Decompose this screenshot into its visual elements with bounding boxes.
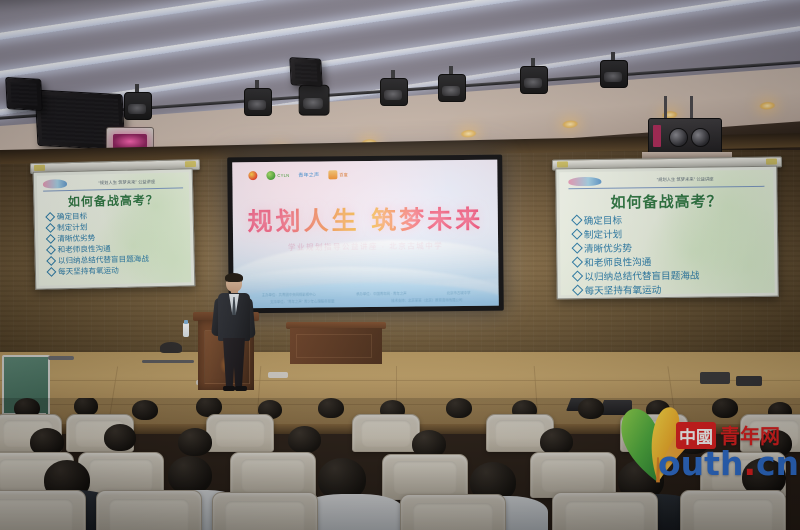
diamond-bullet-icon <box>47 267 57 277</box>
sponsor-logo-label: 青年之声 <box>298 171 319 178</box>
audience-head <box>168 456 212 494</box>
speaker-shoe <box>223 386 235 391</box>
stage-light <box>520 58 546 92</box>
projector-lens <box>669 128 688 147</box>
projection-screen-right: “规划人生 筑梦未来” 公益讲座 如何备战高考？ 确定目标 制定计划 清晰优劣势 <box>555 166 779 300</box>
slide-bullet-label: 确定目标 <box>57 211 88 223</box>
credit-text: 技术支持：北京某某（北京）教育咨询有限公司 <box>391 297 462 303</box>
slide-bullet-list: 确定目标 制定计划 清晰优劣势 和老师良性沟通 以归纳总结代替盲目题海战 <box>47 209 185 278</box>
auditorium-seat <box>352 414 420 452</box>
slide-header-text: “规划人生 筑梦未来” 公益讲座 <box>605 176 764 184</box>
speaker-presenter <box>214 274 254 392</box>
audience-head <box>132 400 158 420</box>
cable-run <box>48 356 74 360</box>
watermark-domain-tld: cn <box>756 444 799 483</box>
slide-right: “规划人生 筑梦未来” 公益讲座 如何备战高考？ 确定目标 制定计划 清晰优劣势 <box>559 170 774 296</box>
event-title: 规划人生 筑梦未来 <box>233 200 498 239</box>
sponsor-logo-qingnian-zhisheng: 青年之声 <box>298 171 319 178</box>
credit-text: 支持单位："青年之声" 青少年心理服务联盟 <box>270 298 334 304</box>
auditorium-seat <box>552 492 658 530</box>
slide-bullet-label: 制定计划 <box>584 226 623 240</box>
audience-head <box>446 398 472 418</box>
auditorium-seat <box>0 490 86 530</box>
stage-equipment-box <box>736 376 762 386</box>
red-emblem-icon <box>248 171 257 180</box>
downlight <box>460 129 477 138</box>
stage-light <box>600 52 626 86</box>
sponsor-logo-cyln: CYLN <box>266 171 289 180</box>
watermark-domain-head: outh <box>658 444 743 483</box>
projector-mount <box>690 96 693 118</box>
speaker-trousers <box>223 338 245 388</box>
credit-text: 北京市古城中学 <box>447 290 471 295</box>
slide-bullet-label: 每天坚持有氧运动 <box>584 282 661 297</box>
slide-bullet-list: 确定目标 制定计划 清晰优劣势 和老师良性沟通 以归纳总结代替盲目题海战 <box>573 210 767 296</box>
slide-header-right: “规划人生 筑梦未来” 公益讲座 <box>568 175 765 189</box>
slide-left: “规划人生 筑梦未来” 公益讲座 如何备战高考？ 确定目标 制定计划 清晰优劣势 <box>37 172 191 285</box>
led-stage-screen: CYLN 青年之声 百度 规划人生 筑梦未来 学业规划指导公益讲座 · 北京古城… <box>227 155 504 314</box>
auditorium-seat <box>680 490 786 530</box>
stage-light <box>380 70 406 104</box>
projector-indicator <box>653 125 661 147</box>
diamond-bullet-icon <box>45 212 55 222</box>
slide-decoration-icon <box>568 177 602 186</box>
diamond-bullet-icon <box>572 256 583 267</box>
diamond-bullet-icon <box>46 245 56 255</box>
sponsor-logo-communist-youth-league <box>248 171 257 180</box>
partner-mark-icon <box>328 170 337 179</box>
credit-text: 主办单位：共青团中央网络影视中心 <box>262 292 316 298</box>
bottle-cap <box>184 320 188 324</box>
slide-bullet-label: 确定目标 <box>584 212 623 226</box>
stage-monitor-floor <box>160 342 182 353</box>
diamond-bullet-icon <box>46 234 56 244</box>
auditorium-seat <box>96 490 202 530</box>
slide-header-text: “规划人生 筑梦未来” 公益讲座 <box>71 178 183 187</box>
cable-run <box>142 360 194 363</box>
diamond-bullet-icon <box>572 284 583 295</box>
credit-text: 承办单位：中国青年网 · 青年之声 <box>356 291 407 297</box>
slide-bullet-label: 制定计划 <box>57 222 88 234</box>
speaker-shoe <box>235 386 247 391</box>
auditorium-seat <box>212 492 318 530</box>
sponsor-logo-label: CYLN <box>277 173 289 178</box>
audience-head <box>178 428 212 456</box>
green-leaf-icon <box>266 171 275 180</box>
water-bottle <box>183 323 189 337</box>
sponsor-logo-partner: 百度 <box>328 170 348 179</box>
sponsor-logo-row: CYLN 青年之声 百度 <box>248 170 348 180</box>
table-panel <box>296 334 372 358</box>
speaker-hair <box>225 273 243 282</box>
projection-screen-left: “规划人生 筑梦未来” 公益讲座 如何备战高考？ 确定目标 制定计划 清晰优劣势 <box>33 168 196 290</box>
slide-title: 如何备战高考？ <box>37 190 189 210</box>
auditorium-seat <box>206 414 274 452</box>
slide-title: 如何备战高考？ <box>559 189 773 213</box>
diamond-bullet-icon <box>571 214 582 225</box>
floor-document <box>268 372 288 378</box>
slide-bullet-label: 和老师良性沟通 <box>584 254 651 269</box>
stage-light <box>244 80 270 114</box>
slide-bullet-label: 清晰优劣势 <box>57 233 95 245</box>
diamond-bullet-icon <box>46 256 56 266</box>
speaker-grill <box>10 82 37 105</box>
speaker-cabinet <box>289 57 322 87</box>
downlight <box>759 101 776 110</box>
watermark-domain: outh.cn <box>658 444 799 483</box>
led-screen-surface: CYLN 青年之声 百度 规划人生 筑梦未来 学业规划指导公益讲座 · 北京古城… <box>232 160 499 309</box>
diamond-bullet-icon <box>572 270 583 281</box>
diamond-bullet-icon <box>46 223 56 233</box>
projector-mount <box>664 96 667 118</box>
slide-bullet-label: 每天坚持有氧运动 <box>58 265 119 277</box>
ceiling-projector <box>648 118 722 156</box>
line-array-speaker <box>5 77 43 111</box>
sponsor-logo-label: 百度 <box>339 172 348 178</box>
stage-light <box>438 66 464 100</box>
slide-decoration-icon <box>43 179 67 189</box>
diamond-bullet-icon <box>571 242 582 253</box>
downlight <box>562 120 579 129</box>
watermark-domain-dot: . <box>743 444 756 483</box>
slide-bullet-label: 清晰优劣势 <box>584 240 632 255</box>
auditorium-photo: “规划人生 筑梦未来” 公益讲座 如何备战高考？ 确定目标 制定计划 清晰优劣势 <box>0 0 800 530</box>
side-table <box>286 322 386 366</box>
slide-bullet: 每天坚持有氧运动 <box>48 264 185 278</box>
slide-bullet: 每天坚持有氧运动 <box>573 280 766 296</box>
stage-light <box>124 84 150 118</box>
projector-lens <box>691 128 710 147</box>
audience-head <box>288 426 321 453</box>
slide-bullet-label: 以归纳总结代替盲目题海战 <box>584 267 699 282</box>
auditorium-seat <box>400 494 506 530</box>
watermark-logo: 中國 青年网 outh.cn <box>600 392 800 496</box>
diamond-bullet-icon <box>571 228 582 239</box>
audience-head <box>540 428 573 455</box>
stage-equipment-box <box>700 372 730 384</box>
audience-head <box>104 424 136 451</box>
audience-head <box>318 398 344 418</box>
